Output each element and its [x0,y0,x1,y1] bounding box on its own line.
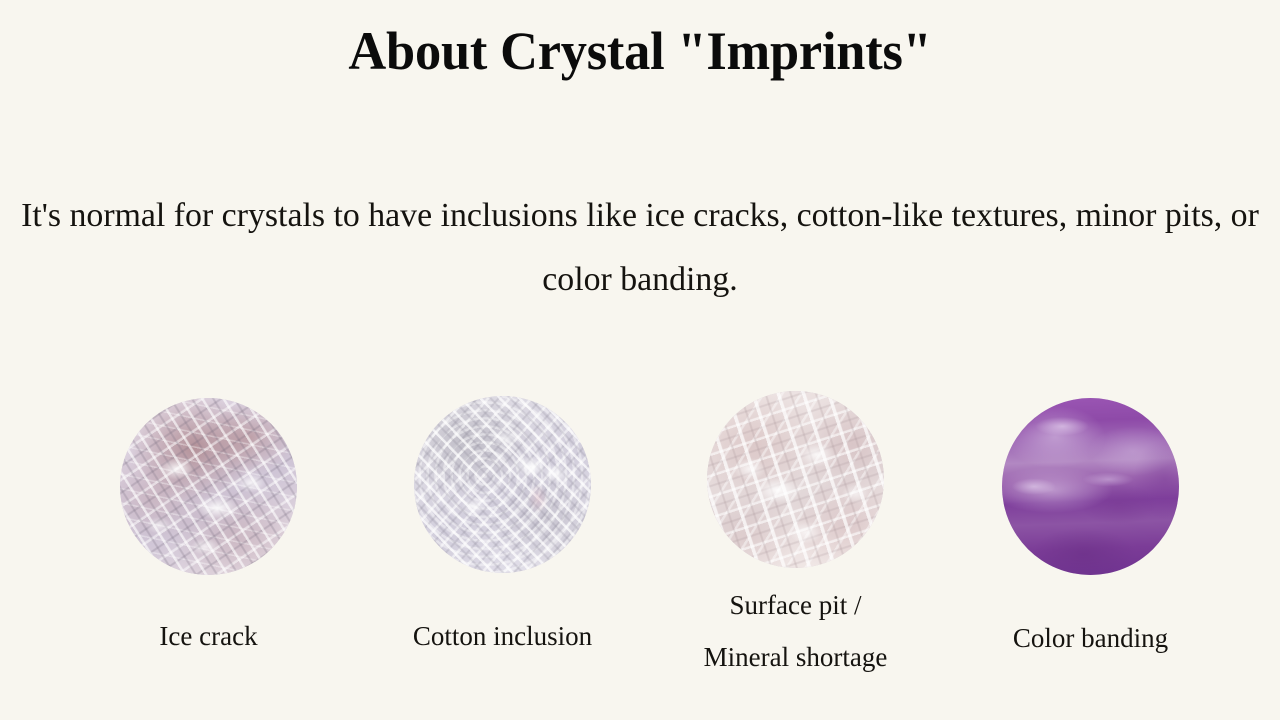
swatch-highlight-layer [707,391,884,568]
figure-color-banding: Color banding [1002,398,1179,575]
figure-cotton-inclusion: Cotton inclusion [414,396,591,573]
surface-pit-crystal-image [707,391,884,568]
figure-row: Ice crack Cotton inclusion Surface pit / [0,0,1280,720]
swatch-highlight-layer [414,396,591,573]
caption-color-banding: Color banding [962,612,1219,664]
figure-surface-pit: Surface pit / Mineral shortage [707,391,884,568]
caption-line-1: Color banding [962,612,1219,664]
color-banding-crystal-image [1002,398,1179,575]
ice-crack-crystal-image [120,398,297,575]
caption-ice-crack: Ice crack [80,610,337,662]
caption-line-2: Mineral shortage [665,631,926,683]
figure-ice-crack: Ice crack [120,398,297,575]
caption-line-1: Cotton inclusion [374,610,631,662]
caption-line-1: Ice crack [80,610,337,662]
slide-root: About Crystal "Imprints" It's normal for… [0,0,1280,720]
caption-line-1: Surface pit / [665,579,926,631]
caption-surface-pit: Surface pit / Mineral shortage [665,579,926,683]
swatch-highlight-layer [120,398,297,575]
swatch-highlight-layer [1002,398,1179,575]
caption-cotton-inclusion: Cotton inclusion [374,610,631,662]
cotton-inclusion-crystal-image [414,396,591,573]
